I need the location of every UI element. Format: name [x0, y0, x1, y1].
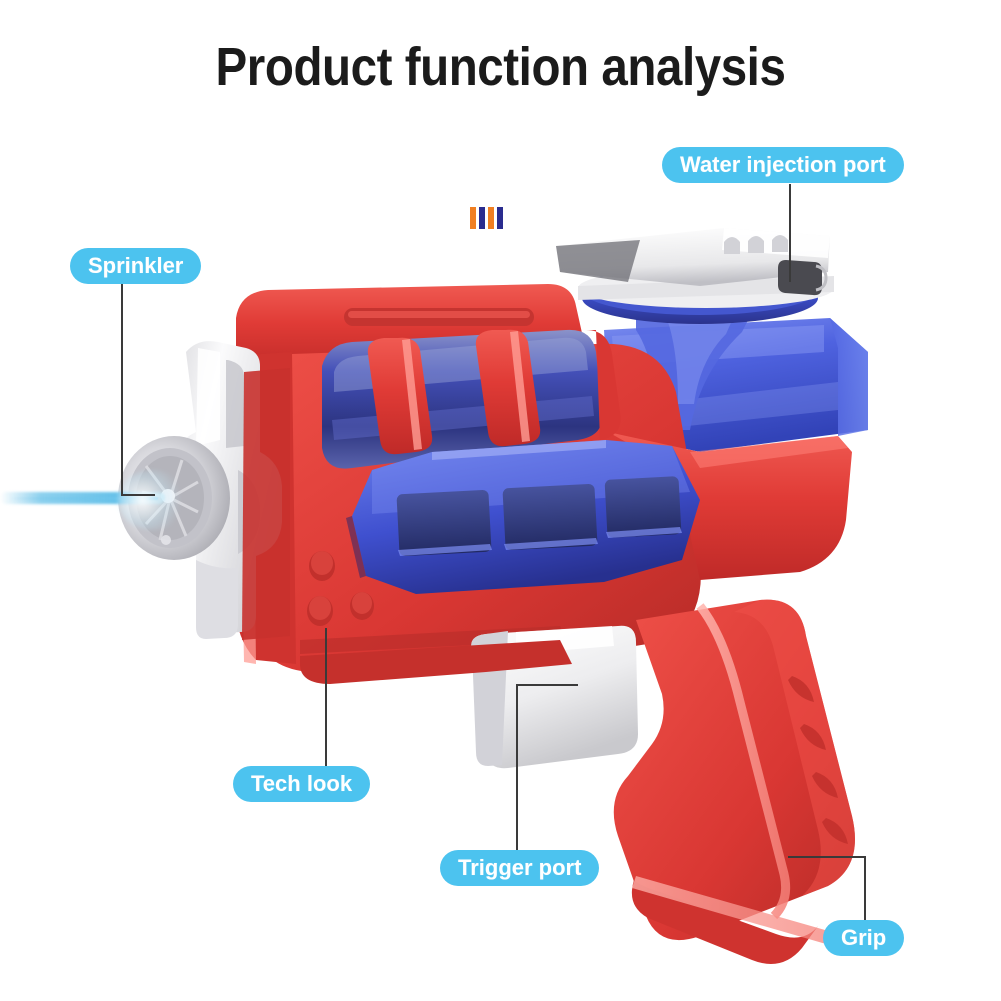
callout-water-injection-port[interactable]: Water injection port	[662, 147, 904, 183]
leader-line-trigger-port-vertical	[516, 684, 518, 852]
leader-line-sprinkler-horizontal	[121, 494, 155, 496]
leader-line-grip-vertical	[864, 856, 866, 922]
nozzle-glow	[118, 470, 188, 530]
leader-line-water-injection-port	[789, 184, 791, 282]
leader-line-sprinkler-vertical	[121, 284, 123, 496]
callout-tech-look[interactable]: Tech look	[233, 766, 370, 802]
callout-sprinkler[interactable]: Sprinkler	[70, 248, 201, 284]
poster-canvas: Product function analysis	[0, 0, 1001, 1001]
leader-line-trigger-port-horizontal	[516, 684, 578, 686]
leader-line-tech-look	[325, 628, 327, 768]
grip	[614, 600, 855, 964]
callout-grip[interactable]: Grip	[823, 920, 904, 956]
callout-trigger-port[interactable]: Trigger port	[440, 850, 599, 886]
leader-line-grip-horizontal	[788, 856, 866, 858]
water-injection-port	[556, 228, 834, 324]
